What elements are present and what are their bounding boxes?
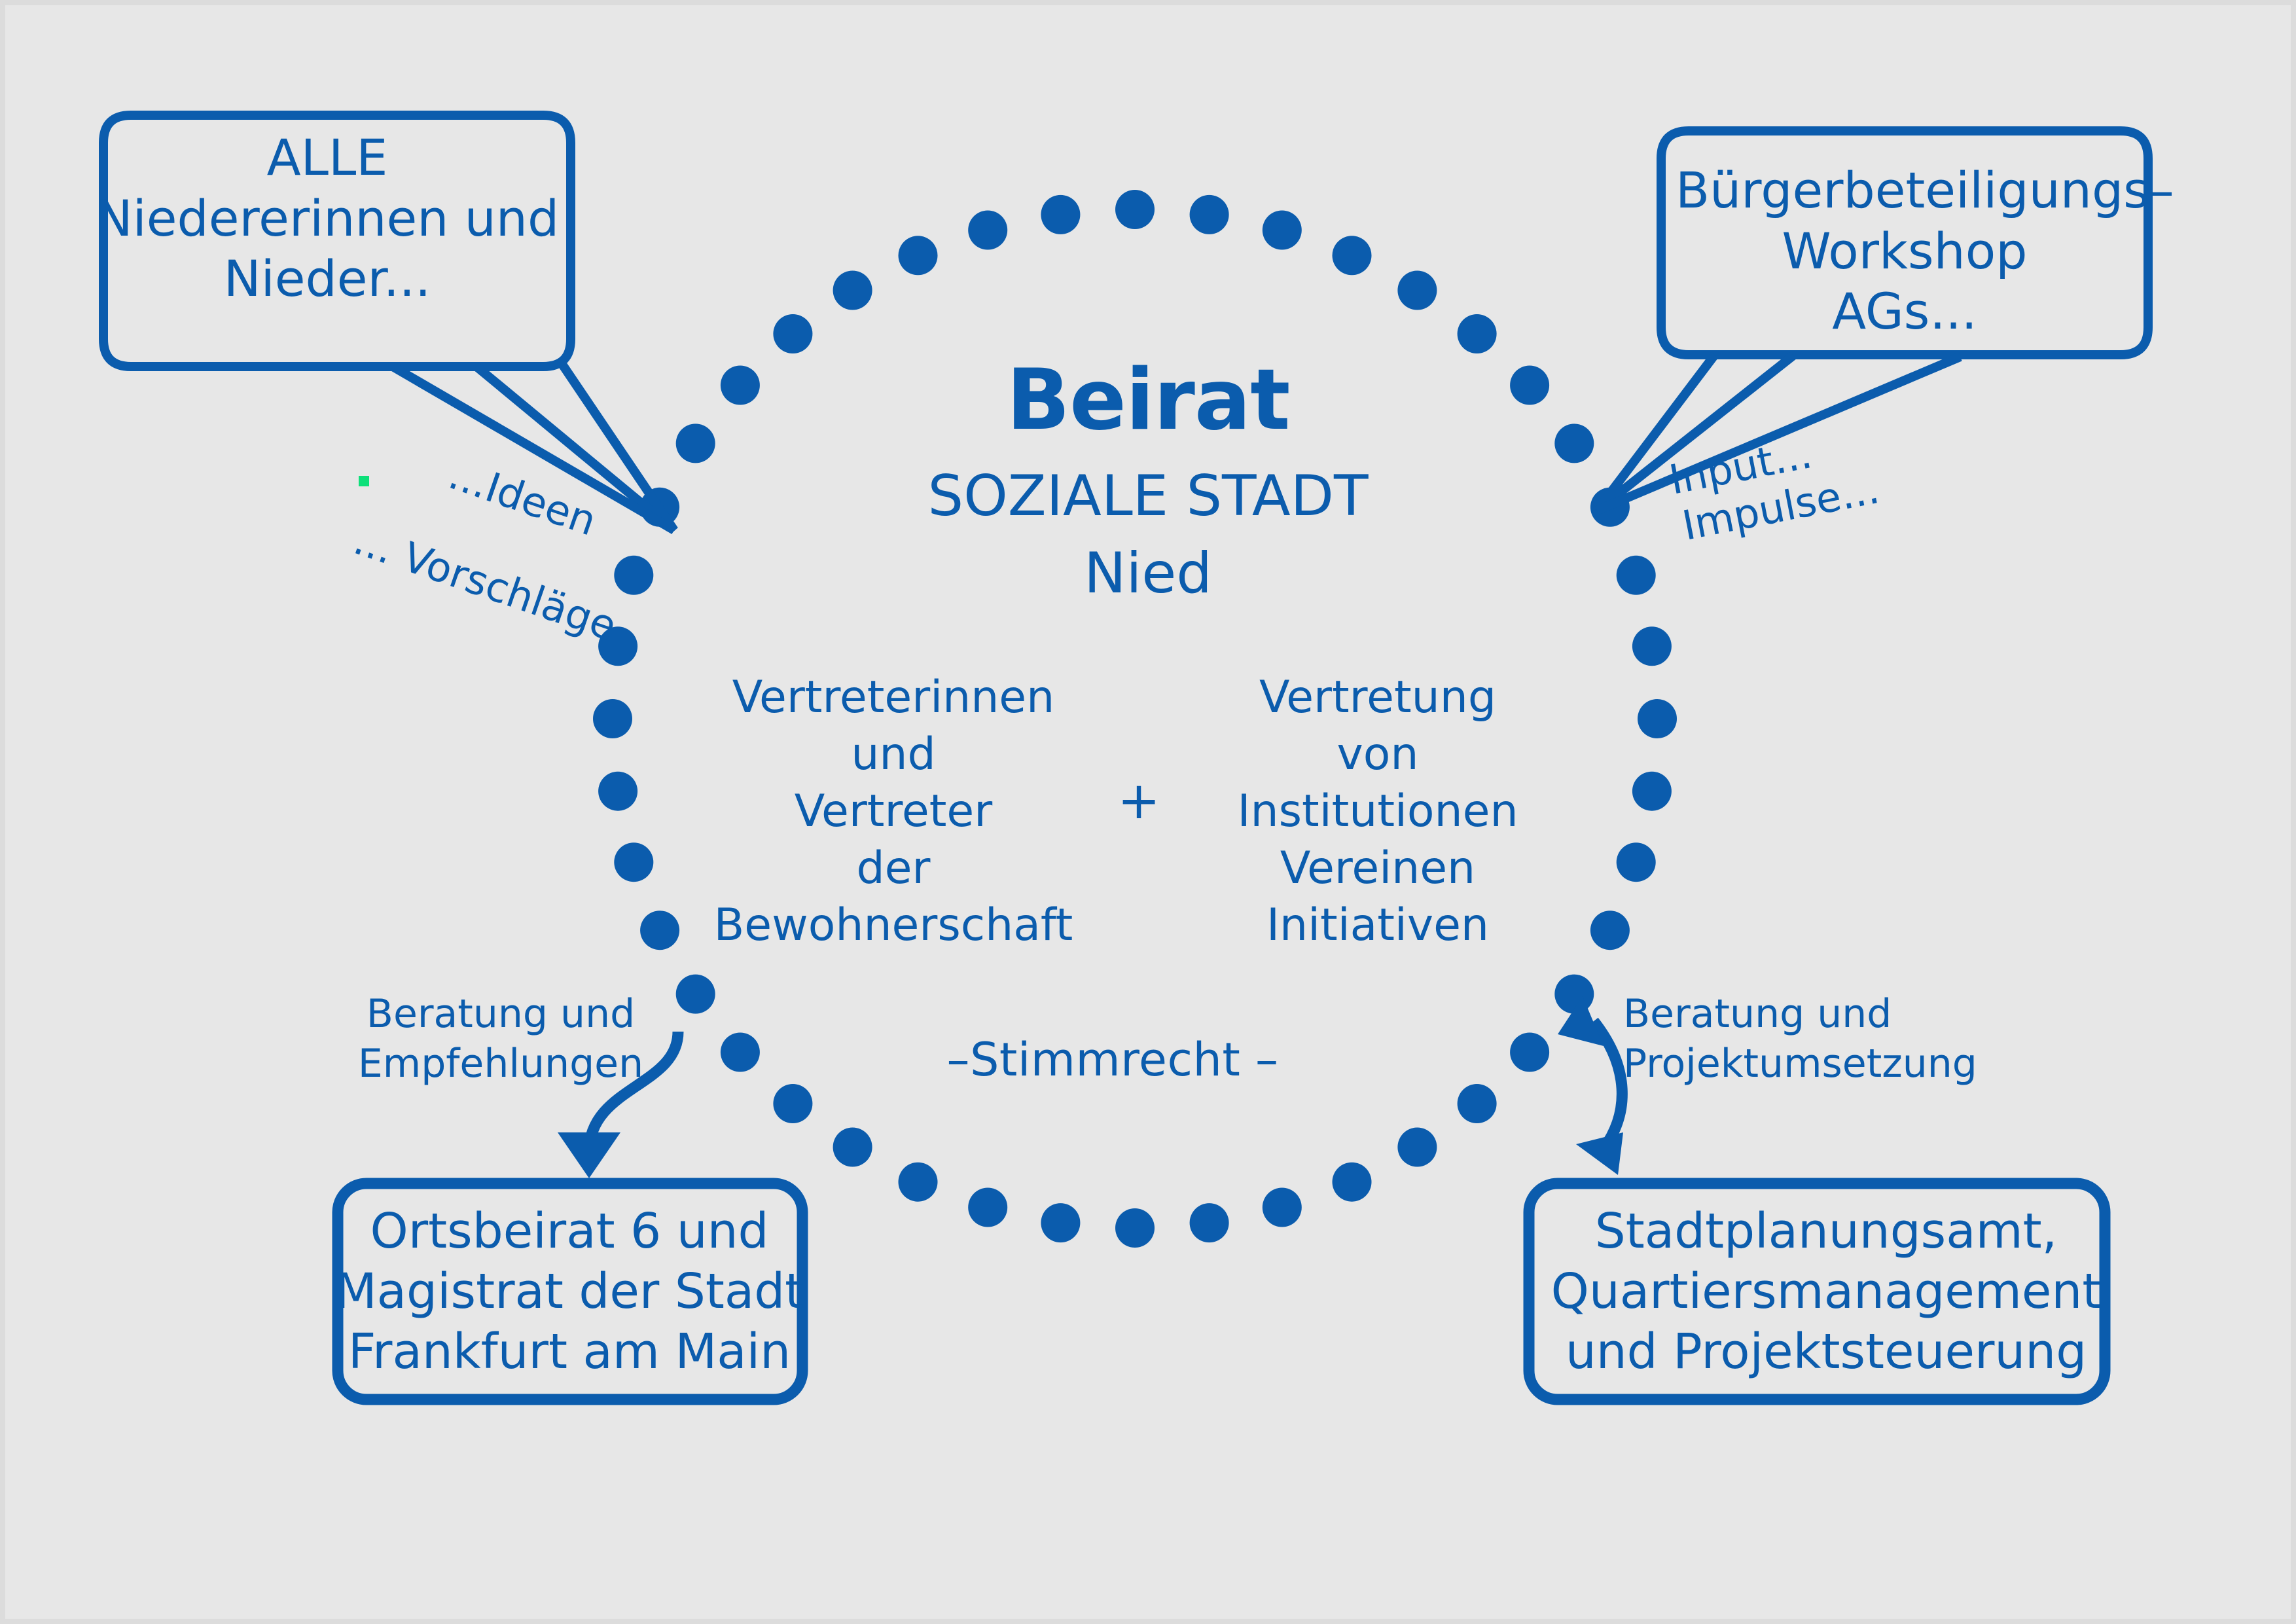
center-subtitle-line2: Nied xyxy=(821,542,1475,605)
ring-dot xyxy=(721,366,760,405)
ring-dot xyxy=(1617,842,1656,882)
bubble-left-label: ALLE Niedererinnen und Nieder... xyxy=(92,128,563,310)
ring-dot xyxy=(1190,195,1229,234)
ring-dot xyxy=(1115,1208,1155,1248)
ring-dot xyxy=(773,1084,812,1123)
ring-dot xyxy=(1397,1128,1437,1167)
ring-dot xyxy=(1115,190,1155,229)
box-bottom-right-label: Stadtplanungsamt, Quartiersmanagement un… xyxy=(1538,1202,2114,1382)
ring-dot xyxy=(1554,424,1594,463)
ring-dot xyxy=(1041,1203,1080,1242)
ring-dot xyxy=(1510,366,1549,405)
ring-dot xyxy=(968,211,1007,250)
ring-dot xyxy=(899,236,938,275)
center-column-left: Vertreterinnen und Vertreter der Bewohne… xyxy=(694,669,1093,954)
ring-dot xyxy=(899,1163,938,1202)
bubble-right-label: Bürgerbeteiligungs– Workshop AGs... xyxy=(1676,160,2134,342)
center-column-right: Vertretung von Institutionen Vereinen In… xyxy=(1191,669,1564,954)
ring-dot xyxy=(598,772,637,811)
green-marker-dot xyxy=(359,476,369,486)
ring-dot xyxy=(833,271,872,310)
ring-dot xyxy=(721,1033,760,1072)
ring-dot xyxy=(1190,1203,1229,1242)
ring-dot xyxy=(1590,911,1630,950)
ring-dot xyxy=(1263,1188,1302,1227)
ring-dot xyxy=(1632,772,1672,811)
center-footer-stimmrecht: –Stimmrecht – xyxy=(857,1034,1368,1086)
ring-dot xyxy=(676,424,715,463)
ring-dot xyxy=(1617,556,1656,595)
ring-dot xyxy=(1554,975,1594,1014)
ring-dot xyxy=(593,699,632,738)
ring-dot xyxy=(1263,211,1302,250)
ring-dot xyxy=(1397,271,1437,310)
ring-dot xyxy=(968,1188,1007,1227)
plus-symbol: + xyxy=(1086,772,1191,830)
ring-dot xyxy=(1638,699,1677,738)
center-title: Beirat xyxy=(821,353,1475,448)
ring-dot xyxy=(676,975,715,1014)
box-bottom-left-label: Ortsbeirat 6 und Magistrat der Stadt Fra… xyxy=(334,1202,805,1382)
center-subtitle-line1: SOZIALE STADT xyxy=(821,465,1475,528)
relation-label-right: Beratung und Projektumsetzung xyxy=(1623,990,1990,1089)
ring-dot xyxy=(1333,236,1372,275)
ring-dot xyxy=(1333,1163,1372,1202)
ring-dot xyxy=(640,911,679,950)
relation-label-left: Beratung und Empfehlungen xyxy=(327,990,674,1089)
ring-dot xyxy=(1041,195,1080,234)
ring-dot xyxy=(1510,1033,1549,1072)
ring-dot xyxy=(1458,314,1497,353)
double-arrow-icon xyxy=(1558,996,1623,1175)
diagram-canvas: ALLE Niedererinnen und Nieder... Bürgerb… xyxy=(0,0,2296,1624)
ring-dot xyxy=(1632,626,1672,666)
ring-dot xyxy=(773,314,812,353)
ring-dot xyxy=(833,1128,872,1167)
ring-dot xyxy=(614,842,653,882)
ring-dot xyxy=(1458,1084,1497,1123)
